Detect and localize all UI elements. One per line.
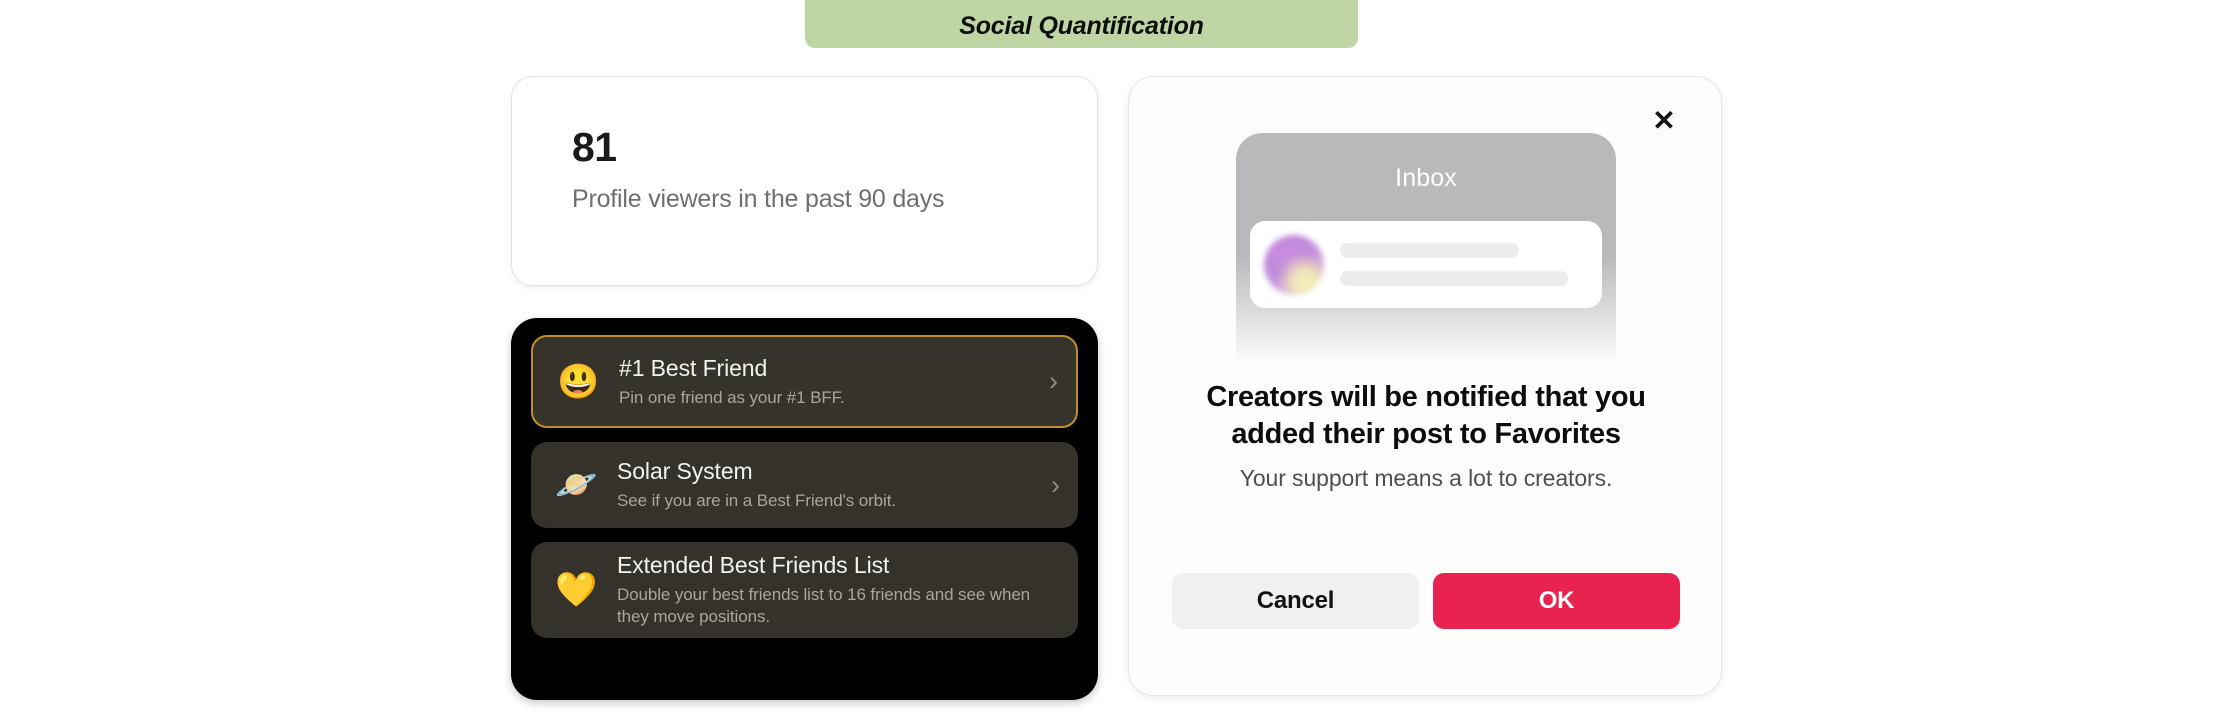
grinning-face-emoji: 😃 (551, 365, 619, 399)
list-item-solar-system[interactable]: 🪐 Solar System See if you are in a Best … (531, 442, 1078, 528)
section-banner: Social Quantification (805, 0, 1358, 48)
list-item-text: Extended Best Friends List Double your b… (617, 552, 1060, 628)
avatar (1264, 235, 1324, 295)
profile-viewers-count: 81 (572, 124, 617, 171)
profile-viewers-card: 81 Profile viewers in the past 90 days (511, 76, 1098, 286)
list-item-title: Extended Best Friends List (617, 552, 1054, 579)
list-item-title: #1 Best Friend (619, 355, 1026, 382)
placeholder-line (1340, 243, 1519, 258)
dialog-title: Creators will be notified that you added… (1167, 379, 1685, 453)
message-placeholder-lines (1340, 243, 1588, 286)
chevron-right-icon[interactable]: › (1032, 368, 1058, 395)
list-item-subtitle: See if you are in a Best Friend's orbit. (617, 490, 1028, 512)
dialog-actions: Cancel OK (1172, 573, 1680, 629)
inbox-message-card (1250, 221, 1602, 308)
profile-viewers-label: Profile viewers in the past 90 days (572, 185, 944, 214)
dialog-subtitle: Your support means a lot to creators. (1167, 465, 1685, 492)
chevron-right-icon[interactable]: › (1034, 472, 1060, 499)
list-item-extended-best-friends[interactable]: 💛 Extended Best Friends List Double your… (531, 542, 1078, 638)
list-item-best-friend[interactable]: 😃 #1 Best Friend Pin one friend as your … (531, 335, 1078, 428)
inbox-illustration: Inbox (1236, 133, 1616, 373)
favorites-notification-dialog: ✕ Inbox Creators will be notified that y… (1128, 76, 1722, 696)
list-item-text: #1 Best Friend Pin one friend as your #1… (619, 355, 1032, 409)
best-friends-feature-card: 😃 #1 Best Friend Pin one friend as your … (511, 318, 1098, 700)
ok-button[interactable]: OK (1433, 573, 1680, 629)
list-item-text: Solar System See if you are in a Best Fr… (617, 458, 1034, 512)
list-item-subtitle: Pin one friend as your #1 BFF. (619, 387, 1026, 409)
cancel-button[interactable]: Cancel (1172, 573, 1419, 629)
inbox-label: Inbox (1236, 164, 1616, 193)
close-icon[interactable]: ✕ (1647, 104, 1681, 138)
placeholder-line (1340, 271, 1568, 286)
ringed-planet-emoji: 🪐 (549, 468, 617, 502)
yellow-heart-emoji: 💛 (549, 573, 617, 607)
banner-title: Social Quantification (959, 12, 1203, 41)
list-item-title: Solar System (617, 458, 1028, 485)
list-item-subtitle: Double your best friends list to 16 frie… (617, 584, 1054, 628)
